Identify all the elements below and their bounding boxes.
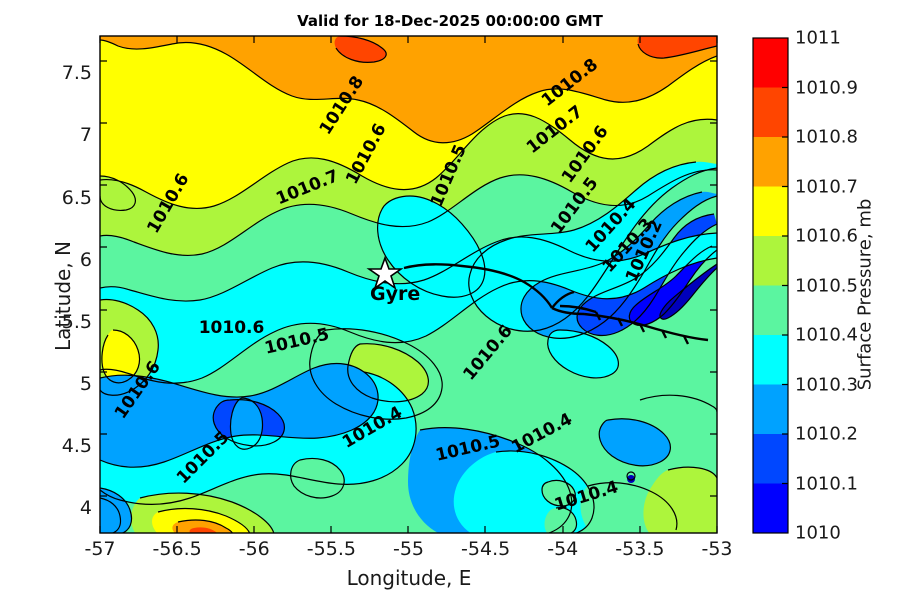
colorbar-tick-label: 1010.9: [795, 77, 858, 98]
colorbar-tick-label: 1011: [795, 28, 841, 49]
y-tick-label: 6: [40, 249, 92, 271]
y-tick-label: 4: [40, 497, 92, 519]
colorbar-tick-label: 1010.4: [795, 325, 858, 346]
colorbar: [753, 38, 788, 533]
colorbar-tick-label: 1010.7: [795, 176, 858, 197]
y-tick-label: 7.5: [40, 62, 92, 84]
x-axis-label: Longitude, E: [0, 566, 818, 590]
x-tick-label: -56.5: [153, 538, 202, 560]
contour-plot: [0, 0, 900, 600]
y-tick-label: 4.5: [40, 435, 92, 457]
figure-container: Valid for 18-Dec-2025 00:00:00 GMT: [0, 0, 900, 600]
colorbar-tick-label: 1010.5: [795, 275, 858, 296]
x-tick-label: -53.5: [615, 538, 664, 560]
colorbar-tick-label: 1010.2: [795, 424, 858, 445]
x-tick-label: -55.5: [307, 538, 356, 560]
contour-label: 1010.6: [199, 318, 265, 338]
x-tick-label: -53: [701, 538, 732, 560]
gyre-label: Gyre: [370, 283, 420, 305]
y-tick-label: 7: [40, 124, 92, 146]
colorbar-tick-label: 1010.1: [795, 473, 858, 494]
colorbar-tick-label: 1010.3: [795, 374, 858, 395]
colorbar-tick-label: 1010.6: [795, 226, 858, 247]
colorbar-tick-label: 1010.8: [795, 127, 858, 148]
x-tick-label: -57: [84, 538, 115, 560]
x-tick-label: -54: [547, 538, 578, 560]
colorbar-tick-label: 1010: [795, 523, 841, 544]
x-tick-label: -56: [239, 538, 270, 560]
x-tick-label: -55: [393, 538, 424, 560]
y-tick-label: 5.5: [40, 311, 92, 333]
y-tick-label: 6.5: [40, 187, 92, 209]
y-tick-label: 5: [40, 373, 92, 395]
x-tick-label: -54.5: [461, 538, 510, 560]
